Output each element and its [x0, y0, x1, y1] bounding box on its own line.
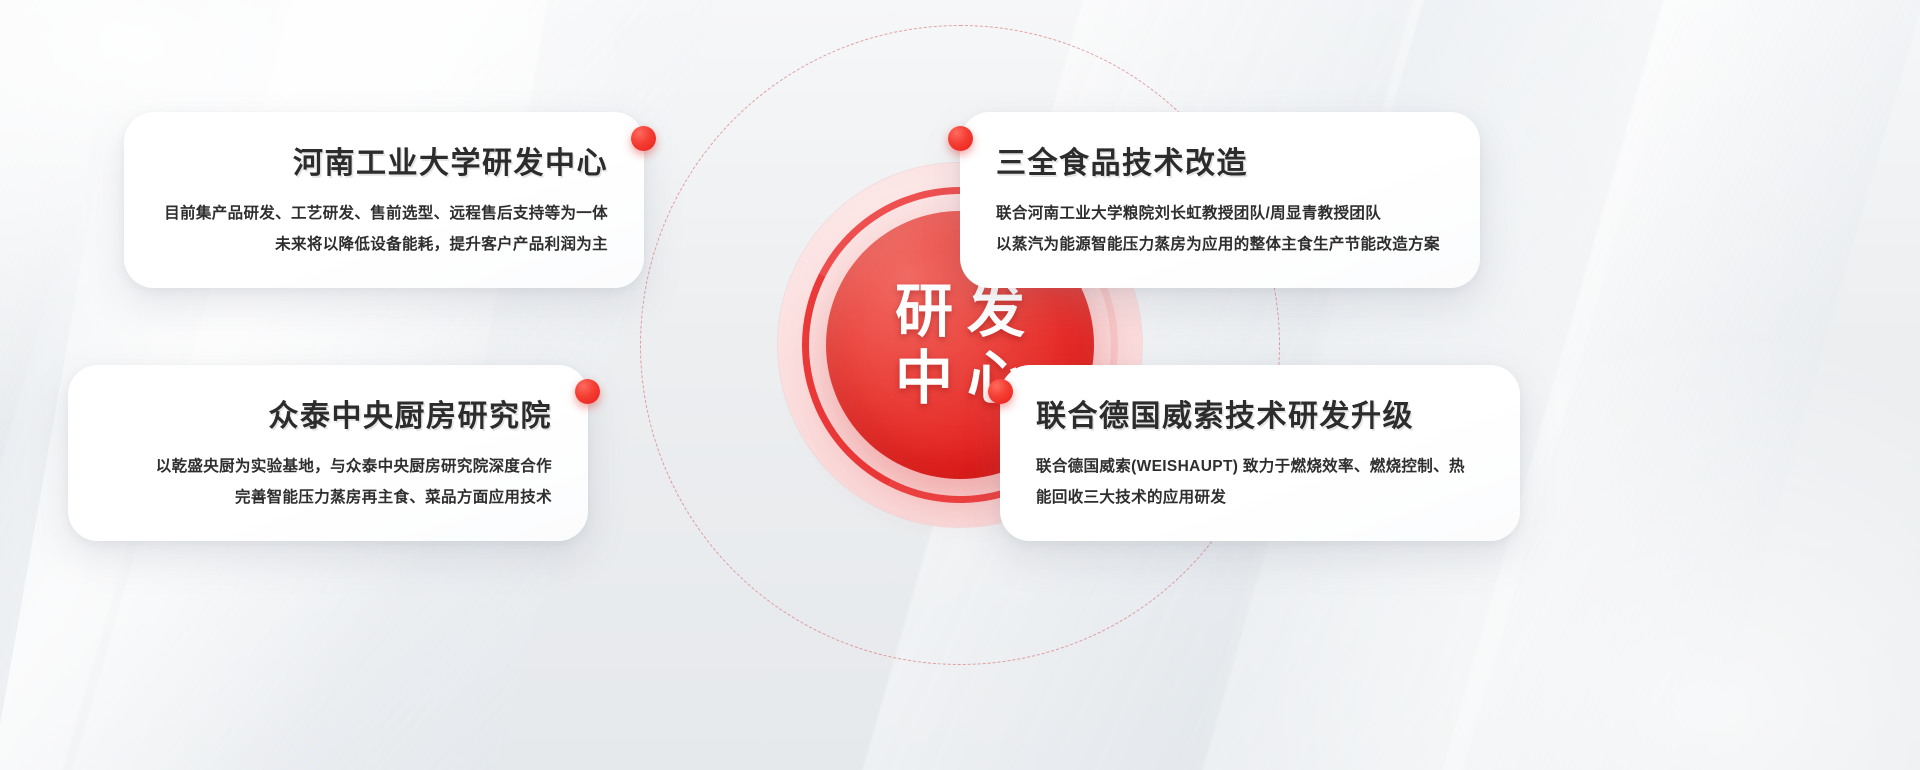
card-body-line: 目前集产品研发、工艺研发、售前选型、远程售后支持等为一体 — [160, 198, 608, 229]
card-body-line: 完善智能压力蒸房再主食、菜品方面应用技术 — [104, 482, 552, 513]
card-weishaupt-joint-technical-rd-upgrade[interactable]: 联合德国威索技术研发升级 联合德国威索(WEISHAUPT) 致力于燃烧效率、燃… — [1000, 365, 1520, 541]
connector-dot-icon — [575, 379, 600, 404]
card-henan-university-rd-center[interactable]: 河南工业大学研发中心 目前集产品研发、工艺研发、售前选型、远程售后支持等为一体 … — [124, 112, 644, 288]
card-body-line: 未来将以降低设备能耗，提升客户产品利润为主 — [160, 229, 608, 260]
card-title: 河南工业大学研发中心 — [160, 138, 608, 182]
card-title: 联合德国威索技术研发升级 — [1036, 391, 1484, 435]
card-body-line: 联合德国威索(WEISHAUPT) 致力于燃烧效率、燃烧控制、热 — [1036, 451, 1484, 482]
infographic-stage: 研发 中心 河南工业大学研发中心 目前集产品研发、工艺研发、售前选型、远程售后支… — [0, 0, 1920, 770]
card-body-line: 联合河南工业大学粮院刘长虹教授团队/周显青教授团队 — [996, 198, 1444, 229]
card-zhongtai-central-kitchen-institute[interactable]: 众泰中央厨房研究院 以乾盛央厨为实验基地，与众泰中央厨房研究院深度合作 完善智能… — [68, 365, 588, 541]
connector-dot-icon — [948, 126, 973, 151]
card-sanquan-food-technical-upgrade[interactable]: 三全食品技术改造 联合河南工业大学粮院刘长虹教授团队/周显青教授团队 以蒸汽为能… — [960, 112, 1480, 288]
connector-dot-icon — [988, 379, 1013, 404]
center-label-line-1: 研发 — [881, 281, 1039, 342]
connector-dot-icon — [631, 126, 656, 151]
center-hub-graphic: 研发 中心 — [600, 0, 1320, 705]
card-body-line: 以乾盛央厨为实验基地，与众泰中央厨房研究院深度合作 — [104, 451, 552, 482]
card-body-line: 能回收三大技术的应用研发 — [1036, 482, 1484, 513]
card-body-line: 以蒸汽为能源智能压力蒸房为应用的整体主食生产节能改造方案 — [996, 229, 1444, 260]
card-title: 众泰中央厨房研究院 — [104, 391, 552, 435]
card-title: 三全食品技术改造 — [996, 138, 1444, 182]
